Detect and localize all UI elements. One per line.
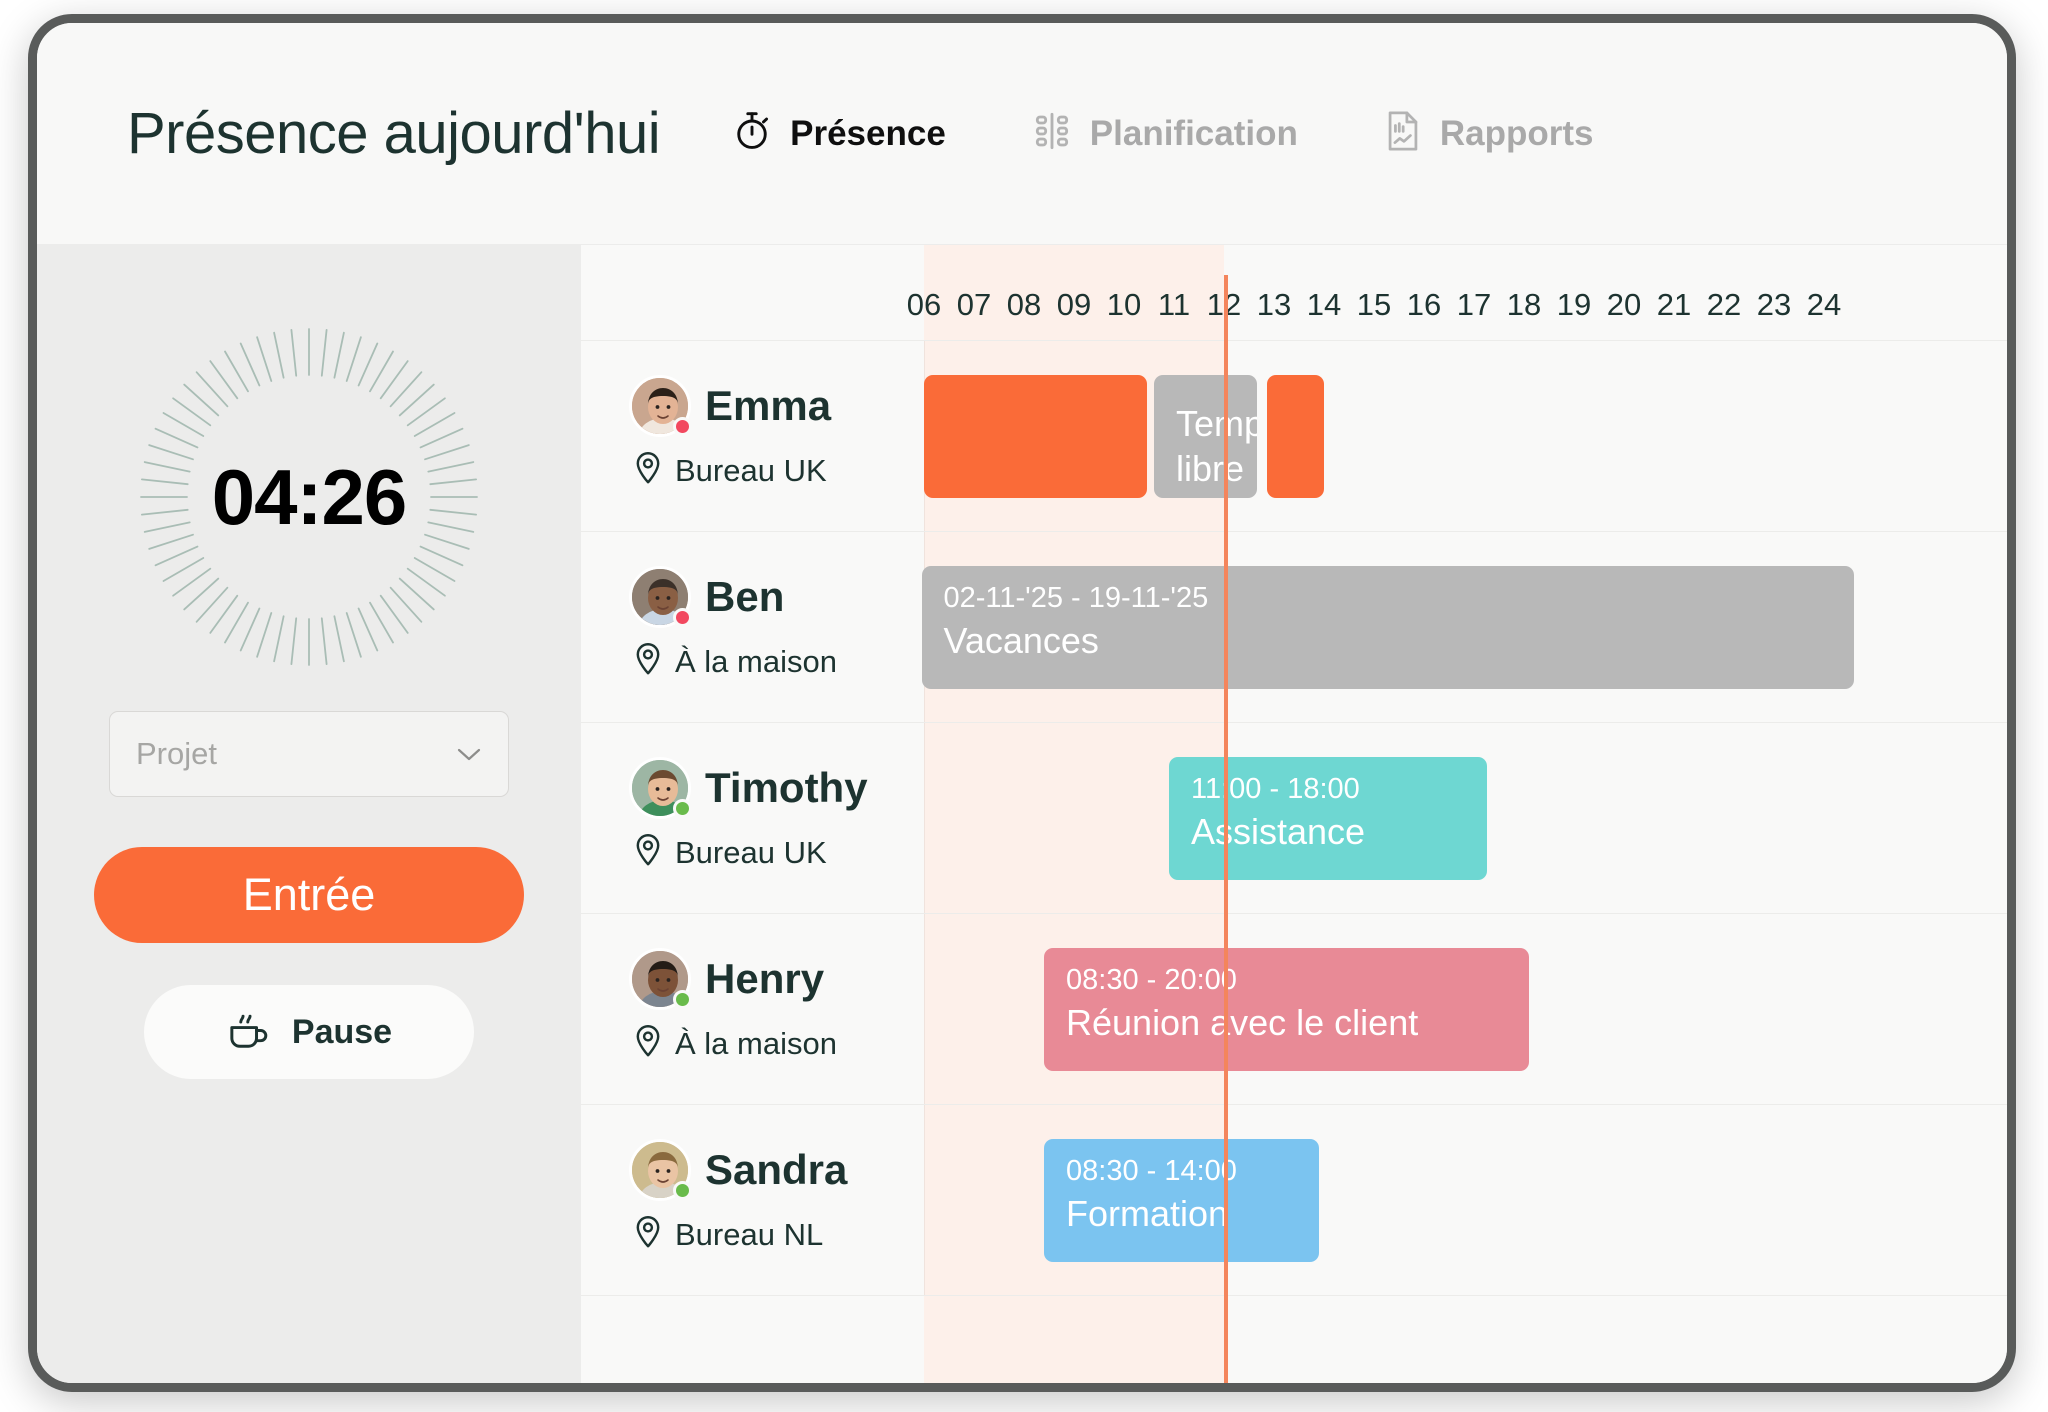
event-title: Assistance [1191, 810, 1465, 853]
person-cell[interactable]: TimothyBureau UK [629, 757, 919, 872]
location-pin-icon [633, 451, 663, 490]
hour-label-14: 14 [1307, 287, 1341, 323]
hour-label-16: 16 [1407, 287, 1441, 323]
person-cell[interactable]: EmmaBureau UK [629, 375, 919, 490]
project-select-placeholder: Projet [136, 736, 456, 772]
event-time: 11:00 - 18:00 [1191, 773, 1465, 806]
table-row[interactable]: EmmaBureau UKTemps libre [581, 341, 2007, 532]
app-header: Présence aujourd'hui Présence [37, 23, 2007, 245]
table-row[interactable]: HenryÀ la maison08:30 - 20:00Réunion ave… [581, 914, 2007, 1105]
event-title: Temps libre [1176, 401, 1257, 491]
timeline-event[interactable]: 08:30 - 14:00Formation [1044, 1139, 1319, 1262]
schedule-icon [1032, 111, 1072, 156]
timeline-event[interactable]: Temps libre [1154, 375, 1257, 498]
event-title: Vacances [944, 619, 1833, 662]
location-pin-icon [633, 1024, 663, 1063]
hour-label-13: 13 [1257, 287, 1291, 323]
person-name: Timothy [705, 764, 868, 812]
table-row[interactable]: BenÀ la maison02-11-'25 - 19-11-'25Vacan… [581, 532, 2007, 723]
hour-axis: 06070809101112131415161718192021222324 [581, 245, 2007, 341]
row-divider [924, 914, 925, 1104]
person-name: Emma [705, 382, 831, 430]
tab-reports[interactable]: Rapports [1384, 110, 1594, 157]
hour-label-17: 17 [1457, 287, 1491, 323]
hour-label-18: 18 [1507, 287, 1541, 323]
hour-label-06: 06 [907, 287, 941, 323]
hour-label-11: 11 [1158, 287, 1190, 323]
person-location: À la maison [675, 1026, 837, 1062]
tab-presence-label: Présence [790, 114, 946, 154]
timeline-event[interactable]: 11:00 - 18:00Assistance [1169, 757, 1487, 880]
row-divider [924, 1105, 925, 1295]
person-location: À la maison [675, 644, 837, 680]
status-badge [673, 990, 692, 1009]
avatar [629, 948, 691, 1010]
current-time-marker [1224, 275, 1228, 1383]
pause-button[interactable]: Pause [144, 985, 474, 1079]
coffee-cup-icon [226, 1009, 272, 1056]
event-time: 08:30 - 20:00 [1066, 964, 1507, 997]
hour-label-21: 21 [1657, 287, 1691, 323]
person-cell[interactable]: HenryÀ la maison [629, 948, 919, 1063]
timeline-event[interactable]: 08:30 - 20:00Réunion avec le client [1044, 948, 1529, 1071]
person-location: Bureau UK [675, 835, 827, 871]
hour-label-07: 07 [957, 287, 991, 323]
person-location: Bureau NL [675, 1217, 823, 1253]
hour-label-10: 10 [1107, 287, 1141, 323]
stopwatch-icon [732, 110, 772, 157]
timeline-panel: 06070809101112131415161718192021222324 E… [581, 245, 2007, 1383]
person-name: Sandra [705, 1146, 847, 1194]
person-name: Henry [705, 955, 824, 1003]
timer-dial: 04:26 [113, 301, 505, 693]
status-badge [673, 417, 692, 436]
pause-button-label: Pause [292, 1013, 392, 1052]
row-divider [924, 723, 925, 913]
avatar [629, 566, 691, 628]
entry-button[interactable]: Entrée [94, 847, 524, 943]
app-window: Présence aujourd'hui Présence [28, 14, 2016, 1392]
hour-label-09: 09 [1057, 287, 1091, 323]
event-title: Réunion avec le client [1066, 1001, 1507, 1044]
hour-label-08: 08 [1007, 287, 1041, 323]
tab-presence[interactable]: Présence [732, 110, 946, 157]
location-pin-icon [633, 1215, 663, 1254]
tab-planning-label: Planification [1090, 114, 1298, 154]
hour-label-22: 22 [1707, 287, 1741, 323]
timeline-event[interactable] [1267, 375, 1325, 498]
hour-label-20: 20 [1607, 287, 1641, 323]
hour-label-15: 15 [1357, 287, 1391, 323]
person-location: Bureau UK [675, 453, 827, 489]
hour-label-23: 23 [1757, 287, 1791, 323]
person-cell[interactable]: BenÀ la maison [629, 566, 919, 681]
avatar [629, 1139, 691, 1201]
tab-planning[interactable]: Planification [1032, 111, 1298, 156]
timer-value: 04:26 [212, 452, 407, 543]
page-title: Présence aujourd'hui [127, 100, 660, 167]
project-select[interactable]: Projet [109, 711, 509, 797]
status-badge [673, 608, 692, 627]
status-badge [673, 1181, 692, 1200]
timer-panel: 04:26 Projet Entrée Pause [37, 245, 581, 1383]
event-time: 08:30 - 14:00 [1066, 1155, 1297, 1188]
person-name: Ben [705, 573, 784, 621]
avatar [629, 375, 691, 437]
timeline-event[interactable] [924, 375, 1147, 498]
person-cell[interactable]: SandraBureau NL [629, 1139, 919, 1254]
hour-label-19: 19 [1557, 287, 1591, 323]
event-title: Formation [1066, 1192, 1297, 1235]
report-document-icon [1384, 110, 1422, 157]
avatar [629, 757, 691, 819]
hour-label-24: 24 [1807, 287, 1841, 323]
chevron-down-icon [456, 746, 482, 762]
status-badge [673, 799, 692, 818]
tab-reports-label: Rapports [1440, 114, 1594, 154]
location-pin-icon [633, 642, 663, 681]
entry-button-label: Entrée [243, 869, 376, 921]
timeline-event[interactable]: 02-11-'25 - 19-11-'25Vacances [922, 566, 1855, 689]
location-pin-icon [633, 833, 663, 872]
event-time: 02-11-'25 - 19-11-'25 [944, 582, 1833, 615]
table-row[interactable]: SandraBureau NL08:30 - 14:00Formation [581, 1105, 2007, 1296]
tab-bar: Présence Planification [732, 110, 1593, 157]
table-row[interactable]: TimothyBureau UK11:00 - 18:00Assistance [581, 723, 2007, 914]
